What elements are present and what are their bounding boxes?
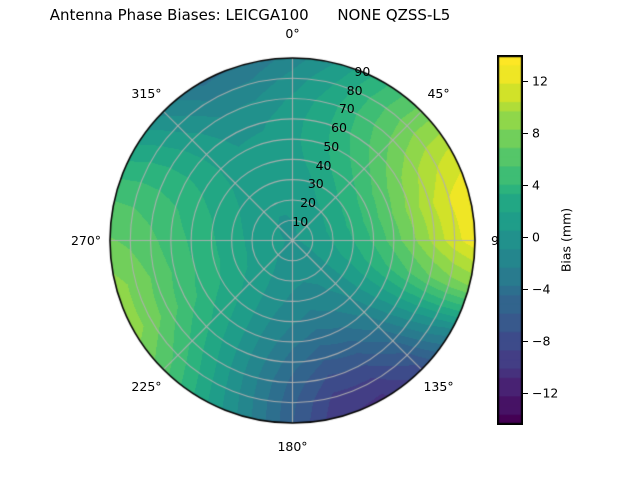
radial-tick-label-30: 30 xyxy=(308,178,324,191)
angular-tick-label-270: 270° xyxy=(71,234,101,247)
colorbar-tick-mark-6 xyxy=(523,393,528,394)
radial-tick-label-40: 40 xyxy=(316,159,332,172)
colorbar-tick-label-6: −12 xyxy=(532,385,558,400)
colorbar-tick-label-3: 0 xyxy=(532,229,540,244)
colorbar-tick-label-4: −4 xyxy=(532,281,550,296)
colorbar-tick-label-0: 12 xyxy=(532,73,548,88)
radial-tick-label-80: 80 xyxy=(347,84,363,97)
angular-tick-label-0: 0° xyxy=(285,28,299,41)
colorbar-gradient xyxy=(497,55,523,425)
angular-tick-label-225: 225° xyxy=(131,380,161,393)
colorbar-tick-label-2: 4 xyxy=(532,177,540,192)
colorbar-tick-mark-2 xyxy=(523,185,528,186)
colorbar-tick-label-1: 8 xyxy=(532,125,540,140)
colorbar-axis-label: Bias (mm) xyxy=(559,208,574,272)
angular-tick-label-180: 180° xyxy=(277,441,307,454)
radial-tick-label-20: 20 xyxy=(300,197,316,210)
radial-tick-label-90: 90 xyxy=(354,66,370,79)
colorbar-tick-mark-5 xyxy=(523,341,528,342)
radial-tick-label-10: 10 xyxy=(292,216,308,229)
radial-tick-label-60: 60 xyxy=(331,122,347,135)
angular-tick-label-135: 135° xyxy=(423,380,453,393)
angular-tick-label-315: 315° xyxy=(131,88,161,101)
angular-tick-label-45: 45° xyxy=(427,88,449,101)
radial-tick-label-70: 70 xyxy=(339,103,355,116)
radial-tick-label-50: 50 xyxy=(323,141,339,154)
colorbar-tick-mark-0 xyxy=(523,81,528,82)
colorbar-tick-mark-4 xyxy=(523,289,528,290)
colorbar-tick-mark-3 xyxy=(523,237,528,238)
colorbar-tick-label-5: −8 xyxy=(532,333,550,348)
colorbar-tick-mark-1 xyxy=(523,133,528,134)
colorbar xyxy=(497,55,523,425)
figure-canvas: Antenna Phase Biases: LEICGA100 NONE QZS… xyxy=(0,0,640,480)
